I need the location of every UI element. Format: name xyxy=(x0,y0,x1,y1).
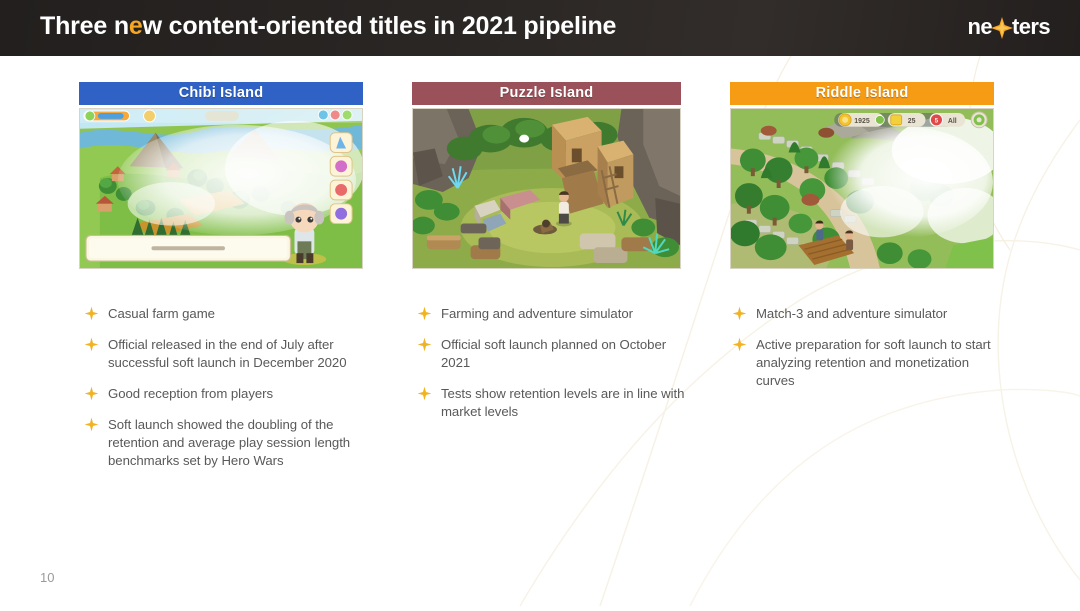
page-title-prefix: Three n xyxy=(40,12,129,40)
star-sparkle-icon xyxy=(732,306,747,321)
list-item-text: Farming and adventure simulator xyxy=(441,306,633,321)
svg-text:25: 25 xyxy=(908,118,916,125)
bullet-list-puzzle-island: Farming and adventure simulator Official… xyxy=(417,305,685,434)
list-item: Good reception from players xyxy=(84,385,374,403)
list-item-text: Soft launch showed the doubling of the r… xyxy=(108,417,350,468)
star-sparkle-icon xyxy=(84,306,99,321)
logo-text-last: ters xyxy=(1012,14,1050,39)
list-item: Active preparation for soft launch to st… xyxy=(732,336,1000,390)
svg-text:All: All xyxy=(948,118,957,125)
list-item: Farming and adventure simulator xyxy=(417,305,685,323)
bullet-list-riddle-island: Match-3 and adventure simulator Active p… xyxy=(732,305,1000,403)
list-item-text: Match-3 and adventure simulator xyxy=(756,306,947,321)
slide-header-bar: Three new content-oriented titles in 202… xyxy=(0,0,1080,56)
star-sparkle-icon xyxy=(84,386,99,401)
page-number: 10 xyxy=(40,570,54,585)
star-sparkle-icon xyxy=(732,337,747,352)
page-title: Three new content-oriented titles in 202… xyxy=(40,12,616,41)
star-sparkle-icon xyxy=(417,386,432,401)
riddle-island-game-screenshot: 1925 25 5 All xyxy=(730,108,994,269)
game-cards-row: Chibi Island xyxy=(0,0,1080,606)
list-item: Official released in the end of July aft… xyxy=(84,336,374,372)
star-sparkle-icon xyxy=(417,337,432,352)
star-sparkle-icon xyxy=(84,337,99,352)
bullet-list-chibi-island: Casual farm game Official released in th… xyxy=(84,305,374,483)
chibi-island-game-screenshot xyxy=(79,108,363,269)
list-item-text: Casual farm game xyxy=(108,306,215,321)
card-title-riddle-island: Riddle Island xyxy=(730,82,994,105)
list-item: Match-3 and adventure simulator xyxy=(732,305,1000,323)
svg-text:1925: 1925 xyxy=(854,118,870,125)
list-item: Casual farm game xyxy=(84,305,374,323)
list-item-text: Active preparation for soft launch to st… xyxy=(756,337,991,388)
list-item: Official soft launch planned on October … xyxy=(417,336,685,372)
card-chibi-island: Chibi Island xyxy=(79,82,363,269)
list-item-text: Tests show retention levels are in line … xyxy=(441,386,684,419)
puzzle-island-game-screenshot xyxy=(412,108,681,269)
card-title-chibi-island: Chibi Island xyxy=(79,82,363,105)
list-item-text: Official soft launch planned on October … xyxy=(441,337,666,370)
page-title-suffix: w content-oriented titles in 2021 pipeli… xyxy=(143,12,617,40)
list-item: Soft launch showed the doubling of the r… xyxy=(84,416,374,470)
card-title-puzzle-island: Puzzle Island xyxy=(412,82,681,105)
card-puzzle-island: Puzzle Island xyxy=(412,82,681,269)
star-sparkle-icon xyxy=(84,417,99,432)
card-riddle-island: Riddle Island xyxy=(730,82,994,269)
list-item-text: Official released in the end of July aft… xyxy=(108,337,346,370)
logo-text-first: ne xyxy=(968,14,992,39)
list-item-text: Good reception from players xyxy=(108,386,273,401)
star-sparkle-icon xyxy=(992,18,1012,38)
page-title-accent-letter: e xyxy=(129,12,143,40)
nexters-logo: ne ters xyxy=(968,14,1050,40)
star-sparkle-icon xyxy=(417,306,432,321)
list-item: Tests show retention levels are in line … xyxy=(417,385,685,421)
